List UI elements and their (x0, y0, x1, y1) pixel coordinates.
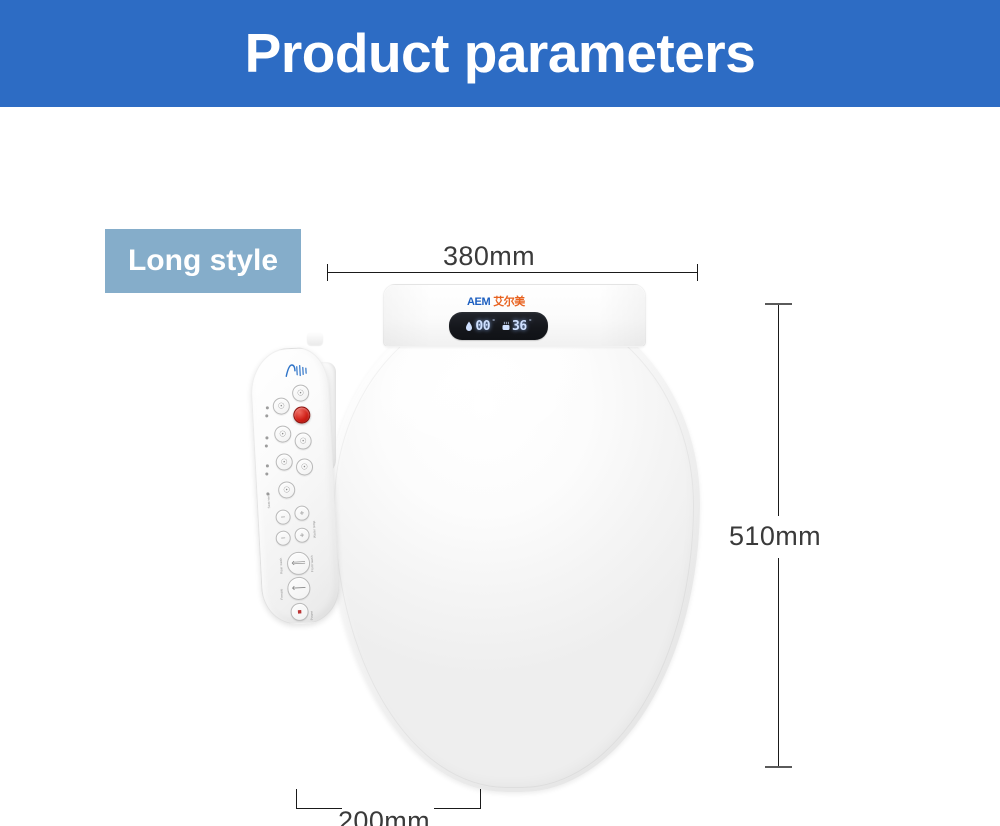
button-adjust-up[interactable]: + (294, 505, 310, 521)
wind-temp-glyph: ☉ (297, 459, 313, 475)
water-temp-icon (502, 321, 510, 332)
plus-glyph: + (295, 506, 309, 520)
dimension-depth-label: 200mm (338, 806, 430, 826)
led-indicator-dot (265, 472, 268, 475)
header-banner: Product parameters (0, 0, 1000, 107)
water-temp-glyph: ☉ (295, 433, 311, 449)
dimension-height-line-top (778, 304, 779, 516)
control-panel[interactable]: ☉ ☉ ☉ ☉ ☉ ☉ ☉ (249, 346, 341, 626)
minus-glyph-2: − (276, 531, 290, 545)
dimension-depth-line-right (434, 808, 480, 809)
rear-wash-glyph: ⟸ (288, 552, 310, 574)
move-glyph: ☉ (275, 426, 291, 442)
seat-temp-group: 00 ° (465, 320, 495, 333)
brand-chinese-text: 艾尔美 (493, 296, 525, 307)
water-temp-unit: ° (529, 319, 532, 326)
nozzle-tab (307, 332, 323, 345)
nozzle-glyph: ☉ (273, 398, 289, 414)
water-temp-value: 36 (512, 320, 527, 333)
seat-temp-glyph: ☉ (293, 385, 309, 401)
panel-label-text: Front wash (311, 555, 315, 572)
stop-glyph: ■ (291, 604, 308, 621)
wave-logo-icon (283, 362, 310, 379)
button-move[interactable]: ☉ (274, 425, 292, 443)
water-temp-group: 36 ° (502, 320, 532, 333)
dimension-height-line-bottom (778, 558, 779, 766)
led-indicator-dot (265, 436, 268, 439)
button-adjust-up-2[interactable]: + (294, 527, 310, 543)
plus-glyph-2: + (295, 528, 309, 542)
dimension-depth-line-left (296, 808, 342, 809)
led-indicator-dot (266, 406, 269, 409)
panel-label-text: Power (311, 611, 315, 621)
button-stop[interactable]: ■ (290, 602, 309, 621)
led-indicator-dot (265, 444, 268, 447)
button-pressure[interactable]: ☉ (275, 453, 293, 471)
button-seat-temp[interactable]: ☉ (292, 384, 310, 402)
style-tag-label: Long style (128, 246, 278, 276)
led-display: 00 ° 36 ° (449, 312, 548, 340)
led-indicator-dot (265, 414, 268, 417)
button-wind-temp[interactable]: ☉ (296, 458, 314, 476)
dimension-width-label: 380mm (443, 241, 535, 272)
panel-label-text: Seat temp (267, 493, 271, 509)
front-wash-glyph: ⟵ (288, 577, 310, 599)
button-water-temp[interactable]: ☉ (294, 432, 312, 450)
product-parameters-page: Product parameters Long style 380mm 510m… (0, 0, 1000, 826)
seat-temp-icon (465, 321, 473, 332)
panel-label-text: Rear wash (280, 558, 284, 574)
brand-mark-text: AEM (467, 297, 490, 308)
dimension-height-label: 510mm (729, 521, 821, 552)
brand-logo: AEM 艾尔美 (467, 296, 525, 308)
page-title: Product parameters (245, 26, 756, 81)
minus-glyph: − (276, 510, 290, 524)
pressure-glyph: ☉ (276, 454, 292, 470)
button-dry[interactable]: ☉ (278, 481, 296, 499)
button-nozzle[interactable]: ☉ (272, 397, 290, 415)
dimension-height-cap-bottom (765, 766, 792, 768)
led-indicator-dot (266, 464, 269, 467)
seat-temp-value: 00 (475, 320, 490, 333)
dry-glyph: ☉ (279, 482, 295, 498)
panel-label-text: Water temp (313, 521, 317, 539)
dimension-height-cap-top (765, 303, 792, 305)
rear-console: AEM 艾尔美 00 ° 36 ° (383, 284, 646, 347)
button-power[interactable] (293, 406, 311, 424)
toilet-seat-lid (328, 294, 700, 792)
button-adjust-down-2[interactable]: − (275, 530, 291, 546)
button-front-wash[interactable]: ⟵ (287, 576, 311, 600)
button-rear-wash[interactable]: ⟸ (286, 551, 310, 575)
seat-temp-unit: ° (492, 319, 495, 326)
product-illustration: AEM 艾尔美 00 ° 36 ° (250, 276, 720, 796)
dimension-width-line (327, 272, 698, 273)
button-adjust-down[interactable]: − (275, 509, 291, 525)
panel-label-text: Female (280, 589, 284, 600)
